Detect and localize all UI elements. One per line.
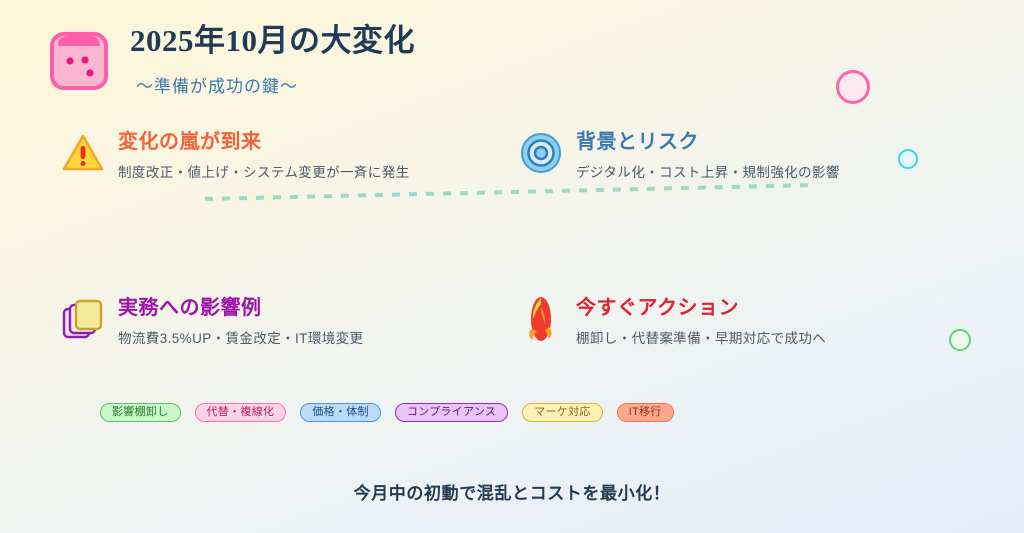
section-description: 物流費3.5%UP・賃金改定・IT環境変更 bbox=[118, 327, 363, 347]
poster-header: 2025年10月の大変化 〜準備が成功の鍵〜 bbox=[48, 22, 415, 97]
section-description: デジタル化・コスト上昇・規制強化の影響 bbox=[576, 161, 840, 181]
section-take-action: 今すぐアクション 棚卸し・代替案準備・早期対応で成功へ bbox=[518, 296, 826, 347]
section-description: 制度改正・値上げ・システム変更が一斉に発生 bbox=[118, 161, 410, 181]
section-heading: 今すぐアクション bbox=[576, 296, 826, 320]
page-title: 2025年10月の大変化 bbox=[130, 22, 415, 61]
green-ring-decoration bbox=[949, 329, 971, 351]
section-background-risk: 背景とリスク デジタル化・コスト上昇・規制強化の影響 bbox=[518, 130, 840, 181]
section-heading: 変化の嵐が到来 bbox=[118, 130, 410, 154]
tag-chip[interactable]: 代替・複線化 bbox=[195, 403, 287, 422]
warning-triangle-icon bbox=[60, 130, 106, 176]
tag-chip[interactable]: 価格・体制 bbox=[300, 403, 381, 422]
calendar-icon bbox=[48, 28, 110, 94]
dashed-divider bbox=[205, 182, 815, 204]
infographic-poster: 2025年10月の大変化 〜準備が成功の鍵〜 変化の嵐が到来 制度改正・値上げ・… bbox=[0, 0, 1024, 533]
stacked-cards-icon bbox=[60, 296, 106, 342]
section-heading: 実務への影響例 bbox=[118, 296, 363, 320]
section-change-storm: 変化の嵐が到来 制度改正・値上げ・システム変更が一斉に発生 bbox=[60, 130, 410, 181]
footer-message: 今月中の初動で混乱とコストを最小化！ bbox=[0, 479, 1024, 504]
pink-ring-decoration bbox=[836, 70, 870, 104]
tag-chip[interactable]: マーケ対応 bbox=[522, 403, 603, 422]
tag-chip[interactable]: 影響棚卸し bbox=[100, 403, 181, 422]
page-subtitle: 〜準備が成功の鍵〜 bbox=[136, 72, 415, 97]
section-heading: 背景とリスク bbox=[576, 130, 840, 154]
tag-chip[interactable]: コンプライアンス bbox=[395, 403, 508, 422]
tag-list: 影響棚卸し 代替・複線化 価格・体制 コンプライアンス マーケ対応 IT移行 bbox=[100, 403, 760, 422]
section-description: 棚卸し・代替案準備・早期対応で成功へ bbox=[576, 327, 826, 347]
cyan-ring-decoration bbox=[898, 149, 918, 169]
tag-chip[interactable]: IT移行 bbox=[617, 403, 674, 422]
section-business-impact: 実務への影響例 物流費3.5%UP・賃金改定・IT環境変更 bbox=[60, 296, 363, 347]
rocket-flame-icon bbox=[518, 296, 564, 342]
target-circle-icon bbox=[518, 130, 564, 176]
